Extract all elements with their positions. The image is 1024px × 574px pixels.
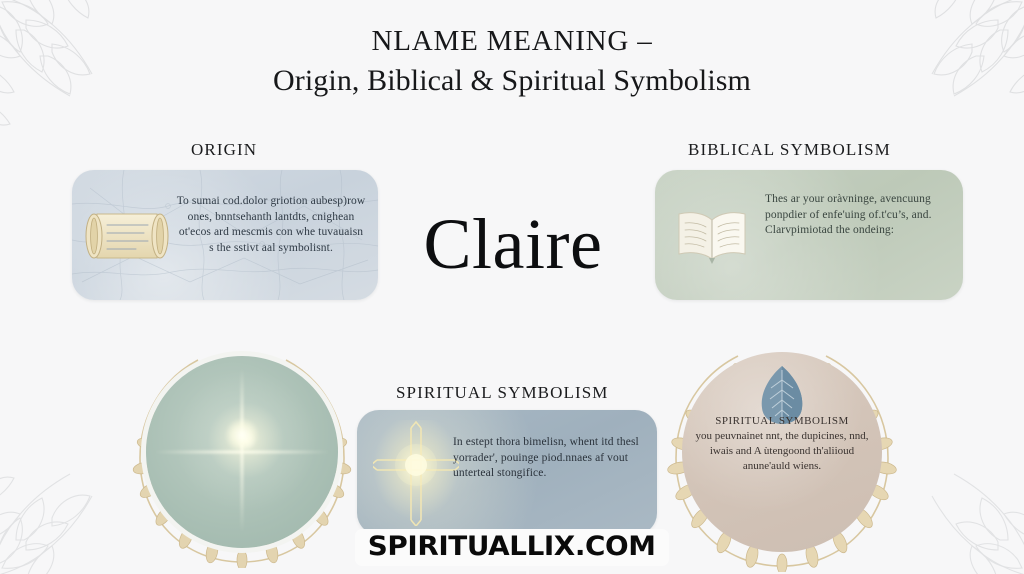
leaf-medallion: SPIRITUAL SYMBOLISM you peuvnainet nnt, … bbox=[682, 352, 882, 552]
leaf-medallion-title: SPIRITUAL SYMBOLISM bbox=[690, 414, 874, 429]
starburst-light-icon bbox=[225, 418, 259, 452]
section-label-spiritual: SPIRITUAL SYMBOLISM bbox=[396, 383, 609, 403]
section-label-origin: ORIGIN bbox=[191, 140, 257, 160]
leaf-medallion-body: SPIRITUAL SYMBOLISM you peuvnainet nnt, … bbox=[690, 414, 874, 474]
spiritual-card-body: In estept thora bimelisn, whent itd thes… bbox=[453, 435, 639, 482]
site-name: SPIRITUALLIX.COM bbox=[368, 532, 656, 562]
origin-card: To sumai cod.dolor griotion aubesp)row o… bbox=[72, 170, 378, 300]
page-title: NLAME MEANING – Origin, Biblical & Spiri… bbox=[0, 22, 1024, 102]
spiritual-card: In estept thora bimelisn, whent itd thes… bbox=[357, 410, 657, 535]
biblical-card-body: Thes ar your oràvninge, avencuung ponpdi… bbox=[765, 192, 943, 239]
origin-card-body: To sumai cod.dolor griotion aubesp)row o… bbox=[176, 194, 366, 256]
glowing-cross-icon bbox=[373, 420, 459, 526]
logo-plate: SPIRITUALLIX.COM bbox=[355, 529, 668, 566]
section-label-biblical: BIBLICAL SYMBOLISM bbox=[688, 140, 891, 160]
scroll-icon bbox=[84, 206, 170, 266]
page-title-line1: NLAME MEANING – bbox=[0, 22, 1024, 60]
name-display: Claire bbox=[388, 196, 638, 292]
light-ray-vertical-icon bbox=[241, 368, 244, 533]
page-title-line2: Origin, Biblical & Spiritual Symbolism bbox=[0, 60, 1024, 102]
infographic-canvas: NLAME MEANING – Origin, Biblical & Spiri… bbox=[0, 0, 1024, 574]
starburst-medallion bbox=[146, 356, 338, 548]
leaf-medallion-text: you peuvnainet nnt, the dupicines, nnd, … bbox=[696, 430, 869, 472]
light-ray-horizontal-icon bbox=[154, 451, 331, 454]
biblical-card: Thes ar your oràvninge, avencuung ponpdi… bbox=[655, 170, 963, 300]
open-book-icon bbox=[673, 208, 751, 264]
site-watermark: SPIRITUALLIX.COM bbox=[0, 529, 1024, 566]
